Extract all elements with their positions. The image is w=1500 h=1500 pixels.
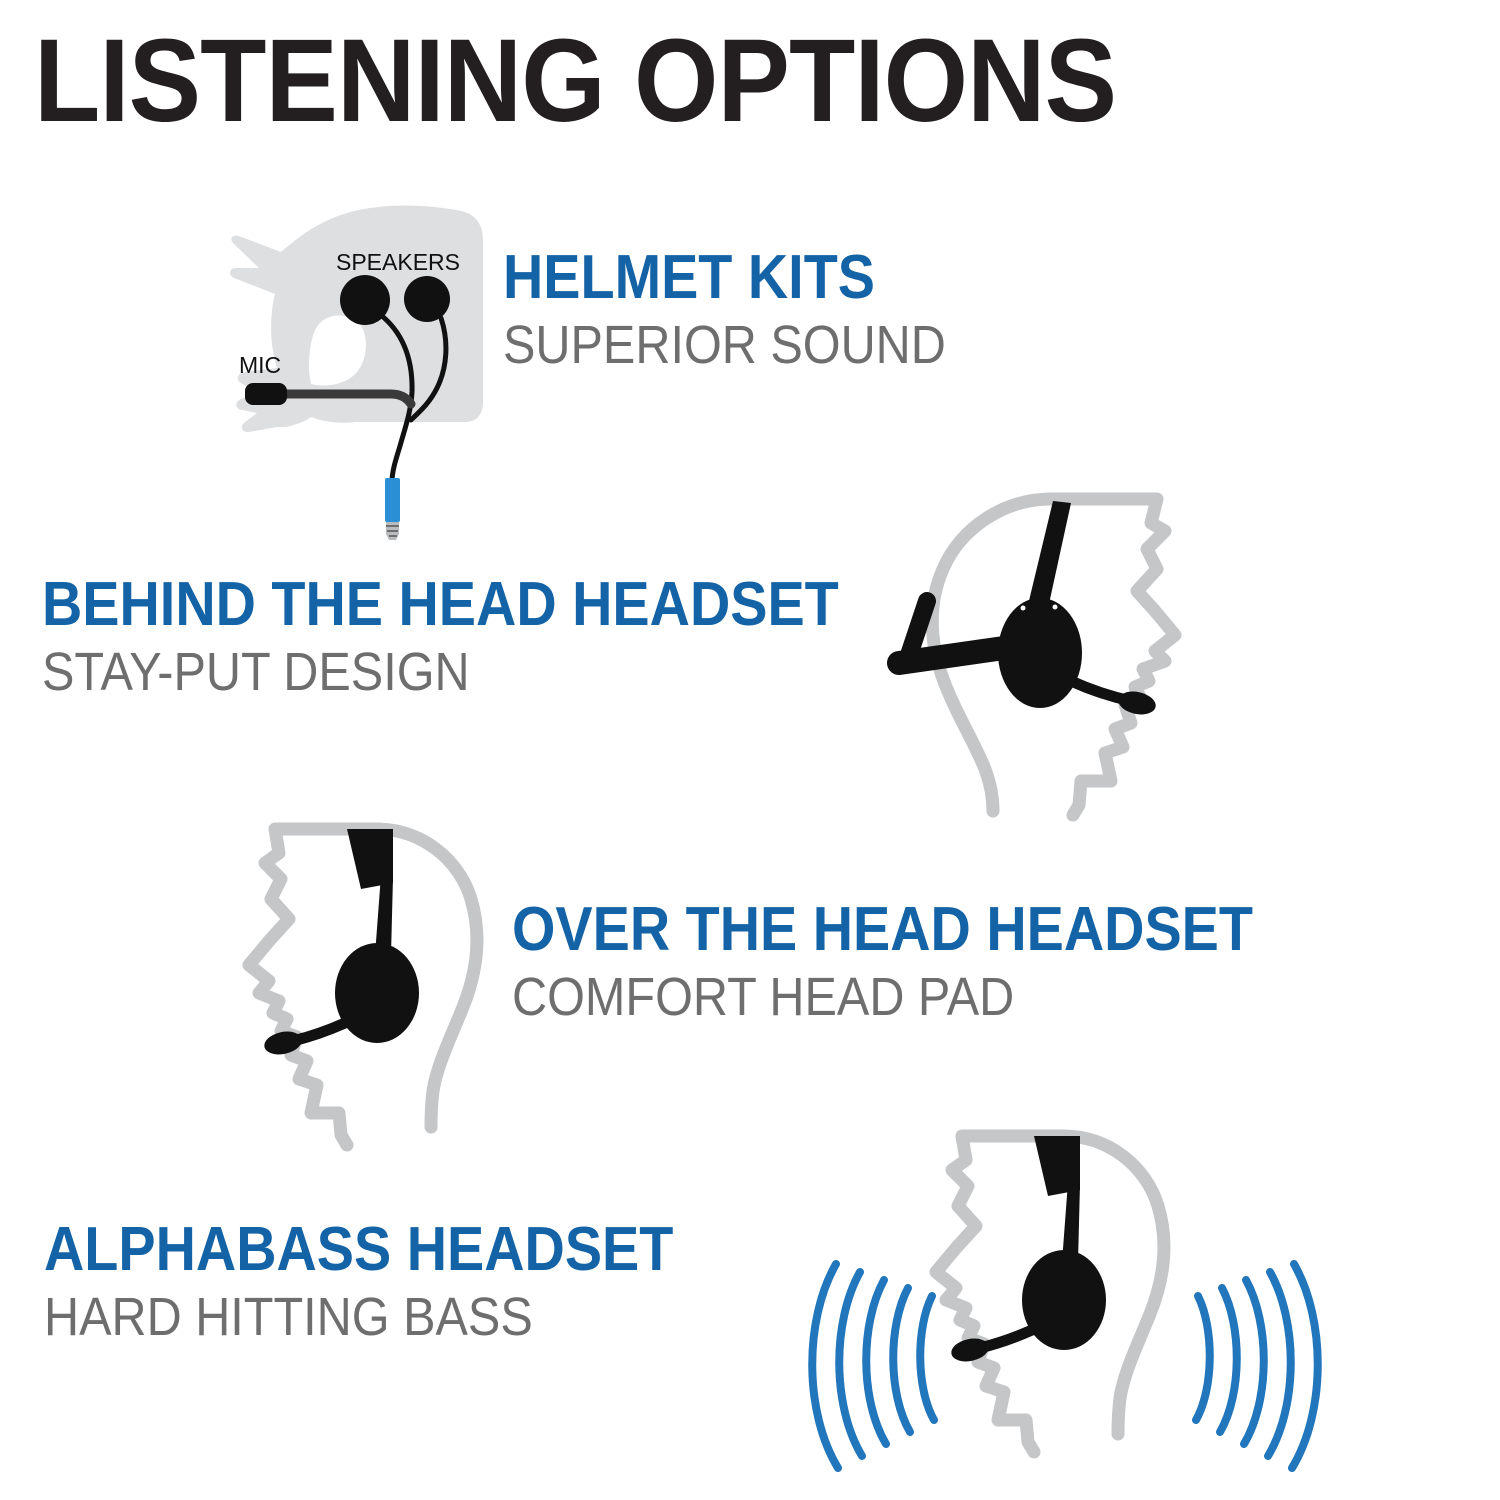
- option-text-behind-the-head-headset: BEHIND THE HEAD HEADSET STAY-PUT DESIGN: [42, 573, 927, 701]
- audio-jack-icon: [385, 478, 400, 522]
- infographic-page: LISTENING OPTIONS SPEAKERS MIC: [0, 0, 1500, 1500]
- helmet-kit-icon: SPEAKERS MIC: [215, 196, 515, 546]
- page-title: LISTENING OPTIONS: [34, 22, 1116, 140]
- option-text-over-the-head-headset: OVER THE HEAD HEADSET COMFORT HEAD PAD: [512, 898, 1335, 1026]
- earcup-icon: [998, 598, 1082, 708]
- option-heading: OVER THE HEAD HEADSET: [512, 898, 1253, 962]
- earcup-icon: [1022, 1250, 1106, 1350]
- option-heading: BEHIND THE HEAD HEADSET: [42, 573, 839, 637]
- behind-the-head-headset-icon: [875, 485, 1225, 825]
- option-heading: ALPHABASS HEADSET: [44, 1218, 673, 1282]
- mic-label: MIC: [239, 352, 281, 378]
- option-subheading: SUPERIOR SOUND: [503, 316, 946, 374]
- option-subheading: STAY-PUT DESIGN: [42, 643, 839, 701]
- earcup-icon: [335, 943, 419, 1043]
- option-subheading: HARD HITTING BASS: [44, 1288, 673, 1346]
- option-subheading: COMFORT HEAD PAD: [512, 968, 1253, 1026]
- speaker-right-icon: [404, 276, 450, 322]
- option-text-helmet-kits: HELMET KITS SUPERIOR SOUND: [503, 246, 995, 374]
- option-text-alphabass-headset: ALPHABASS HEADSET HARD HITTING BASS: [44, 1218, 743, 1346]
- alphabass-headset-icon: [780, 1120, 1350, 1480]
- mic-capsule-icon: [245, 383, 287, 405]
- sound-waves-left-icon: [812, 1264, 934, 1468]
- over-the-head-headset-icon: [215, 815, 545, 1145]
- sound-waves-right-icon: [1196, 1264, 1318, 1468]
- option-heading: HELMET KITS: [503, 246, 946, 310]
- speakers-label: SPEAKERS: [336, 249, 460, 275]
